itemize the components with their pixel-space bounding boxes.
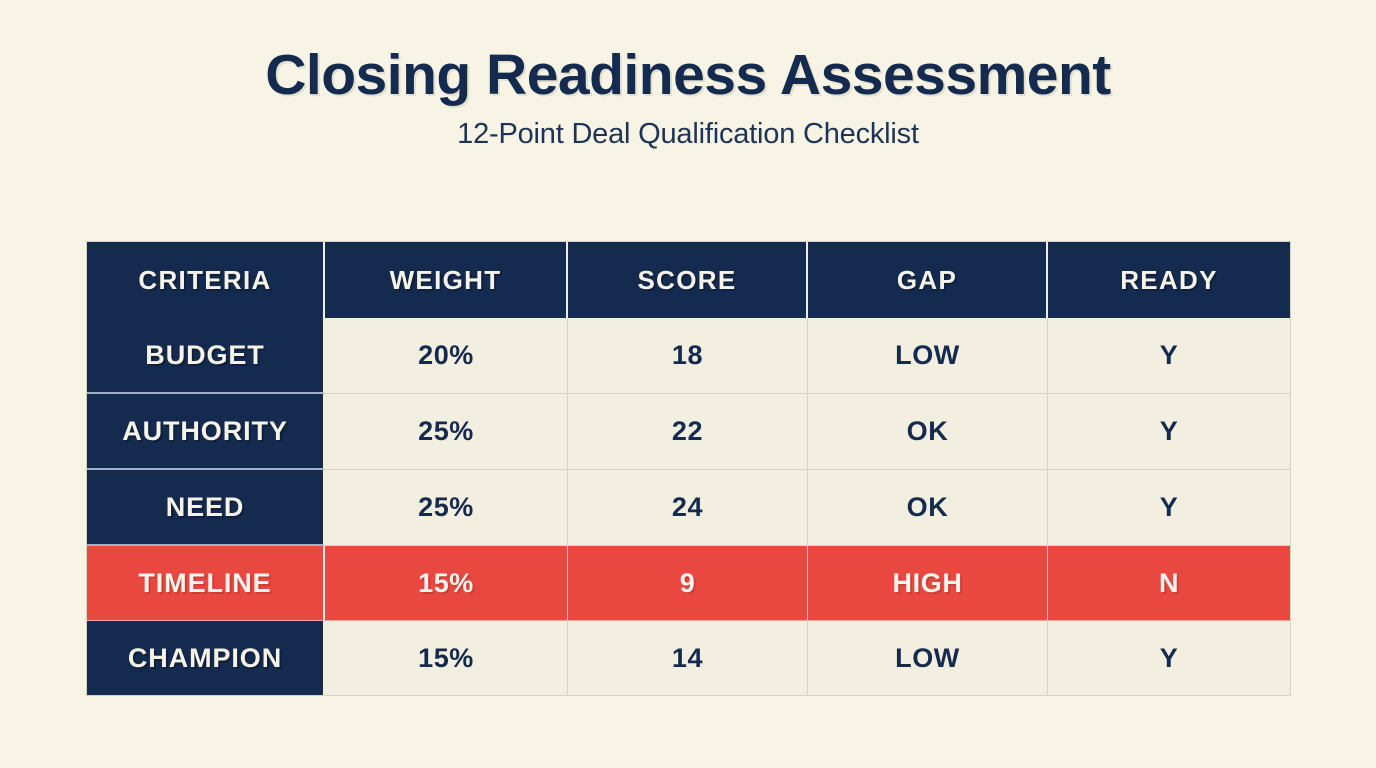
- page-title: Closing Readiness Assessment: [0, 0, 1376, 108]
- cell-gap: OK: [808, 394, 1048, 470]
- cell-ready: Y: [1048, 318, 1290, 394]
- cell-score: 9: [568, 546, 808, 621]
- cell-weight: 25%: [325, 470, 568, 546]
- cell-criteria: BUDGET: [87, 318, 325, 394]
- column-header-weight: WEIGHT: [325, 242, 568, 318]
- cell-weight: 15%: [325, 546, 568, 621]
- table-body: BUDGET20%18LOWYAUTHORITY25%22OKYNEED25%2…: [87, 318, 1290, 695]
- cell-ready: N: [1048, 546, 1290, 621]
- column-header-score: SCORE: [568, 242, 808, 318]
- table-row[interactable]: BUDGET20%18LOWY: [87, 318, 1290, 394]
- column-header-gap: GAP: [808, 242, 1048, 318]
- closing-readiness-table: CRITERIA WEIGHT SCORE GAP READY BUDGET20…: [87, 242, 1290, 695]
- cell-ready: Y: [1048, 394, 1290, 470]
- cell-gap: HIGH: [808, 546, 1048, 621]
- cell-score: 18: [568, 318, 808, 394]
- cell-ready: Y: [1048, 470, 1290, 546]
- table-row[interactable]: TIMELINE15%9HIGHN: [87, 546, 1290, 621]
- cell-weight: 20%: [325, 318, 568, 394]
- page-header: Closing Readiness Assessment 12-Point De…: [0, 0, 1376, 151]
- cell-score: 22: [568, 394, 808, 470]
- cell-criteria: TIMELINE: [87, 546, 325, 621]
- table-header-row: CRITERIA WEIGHT SCORE GAP READY: [87, 242, 1290, 318]
- cell-score: 14: [568, 621, 808, 695]
- column-header-ready: READY: [1048, 242, 1290, 318]
- cell-weight: 15%: [325, 621, 568, 695]
- table-header: CRITERIA WEIGHT SCORE GAP READY: [87, 242, 1290, 318]
- table-row[interactable]: NEED25%24OKY: [87, 470, 1290, 546]
- column-header-criteria: CRITERIA: [87, 242, 325, 318]
- table-row[interactable]: AUTHORITY25%22OKY: [87, 394, 1290, 470]
- cell-ready: Y: [1048, 621, 1290, 695]
- cell-gap: OK: [808, 470, 1048, 546]
- cell-criteria: AUTHORITY: [87, 394, 325, 470]
- page-subtitle: 12-Point Deal Qualification Checklist: [0, 108, 1376, 151]
- cell-criteria: CHAMPION: [87, 621, 325, 695]
- cell-score: 24: [568, 470, 808, 546]
- cell-gap: LOW: [808, 318, 1048, 394]
- cell-gap: LOW: [808, 621, 1048, 695]
- cell-criteria: NEED: [87, 470, 325, 546]
- table-row[interactable]: CHAMPION15%14LOWY: [87, 621, 1290, 695]
- cell-weight: 25%: [325, 394, 568, 470]
